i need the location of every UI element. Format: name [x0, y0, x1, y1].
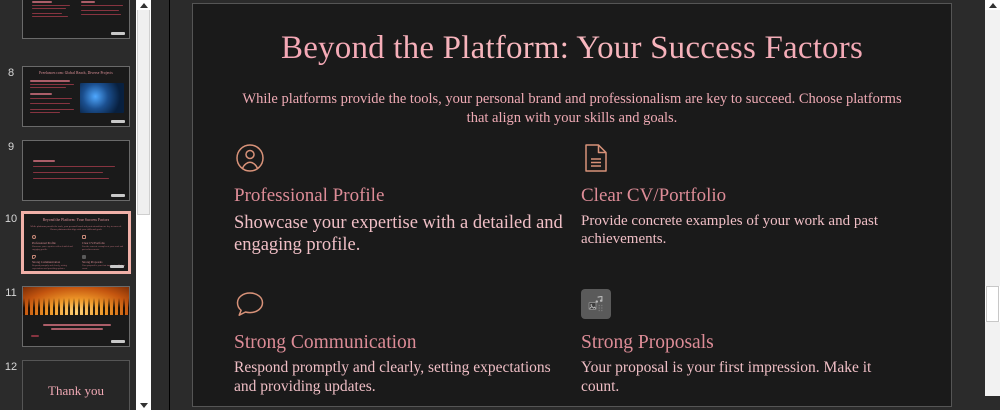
slide-thumbnail-panel[interactable]: 7 8 Freelancer.com: Global Reach, Divers…: [0, 0, 136, 410]
thumbnail-title: Beyond the Platform: Your Success Factor…: [24, 218, 128, 222]
panel-divider: [151, 0, 189, 410]
speech-bubble-icon: [32, 255, 36, 259]
thumbnail-number: 12: [0, 360, 22, 373]
slide-title: Beyond the Platform: Your Success Factor…: [223, 31, 921, 66]
thumbnail-slide-12[interactable]: 12 Thank you: [0, 360, 136, 410]
thumbnail-preview-selected[interactable]: Beyond the Platform: Your Success Factor…: [22, 212, 130, 273]
thumbnail-feature-title: Professional Profile: [32, 241, 56, 245]
main-scrollbar-thumb[interactable]: [986, 286, 999, 322]
thumbnail-preview[interactable]: [22, 0, 130, 39]
thumbnail-footer-bar: [110, 265, 124, 268]
thumbnail-slide-11[interactable]: 11: [0, 286, 136, 347]
thumbnail-preview[interactable]: Thank you: [22, 360, 130, 410]
sidebar-scrollbar-thumb[interactable]: [137, 9, 150, 215]
thumbnail-thank-you-text: Thank you: [23, 383, 129, 399]
thumbnail-slide-7[interactable]: 7: [0, 0, 136, 39]
thumbnail-slide-9[interactable]: 9: [0, 140, 136, 201]
feature-title: Strong Communication: [234, 332, 564, 354]
thumbnail-slide-8[interactable]: 8 Freelancer.com: Global Reach, Diverse …: [0, 66, 136, 127]
divider-line: [169, 0, 170, 410]
feature-title: Clear CV/Portfolio: [581, 185, 911, 207]
speech-bubble-icon: [234, 289, 564, 323]
thumbnail-footer-bar: [111, 120, 125, 123]
thumbnail-feature-title: Strong Proposals: [82, 260, 102, 264]
thumbnail-footer-bar: [111, 32, 125, 35]
main-scrollbar-track-upper[interactable]: [985, 10, 1000, 286]
feature-professional-profile[interactable]: Professional Profile Showcase your exper…: [234, 142, 564, 257]
main-scrollbar[interactable]: [985, 0, 1000, 410]
broken-image-placeholder[interactable]: [581, 289, 611, 319]
slide-subtitle: While platforms provide the tools, your …: [239, 90, 905, 128]
sidebar-scroll-down-icon[interactable]: [137, 400, 150, 410]
thumbnail-feature-body: Provide concrete examples of your work a…: [82, 246, 126, 252]
thumbnail-title: Freelancer.com: Global Reach, Diverse Pr…: [23, 71, 129, 75]
document-lines-icon: [581, 142, 911, 176]
thumbnail-subtitle: While platforms provide the tools, your …: [28, 225, 124, 231]
main-scrollbar-track-lower[interactable]: [985, 322, 1000, 400]
feature-strong-communication[interactable]: Strong Communication Respond promptly an…: [234, 289, 564, 397]
feature-title: Strong Proposals: [581, 332, 911, 354]
main-scroll-up-icon[interactable]: [986, 0, 999, 10]
feature-body: Showcase your expertise with a detailed …: [234, 212, 564, 257]
broken-image-icon: [82, 255, 86, 259]
thumbnail-preview[interactable]: [22, 286, 130, 347]
thumbnail-preview[interactable]: Freelancer.com: Global Reach, Diverse Pr…: [22, 66, 130, 127]
thumbnail-slide-10[interactable]: 10 Beyond the Platform: Your Success Fac…: [0, 212, 136, 273]
thumbnail-footer-bar: [111, 340, 125, 343]
sidebar-scrollbar[interactable]: [136, 0, 151, 410]
thumbnail-feature-body: Respond promptly and clearly, setting ex…: [32, 265, 76, 271]
thumbnail-footer-bar: [111, 194, 125, 197]
feature-strong-proposals[interactable]: Strong Proposals Your proposal is your f…: [581, 289, 911, 397]
thumbnail-feature-title: Strong Communication: [32, 260, 60, 264]
user-circle-icon: [234, 142, 564, 176]
feature-body: Provide concrete examples of your work a…: [581, 212, 906, 249]
thumbnail-network-globe-image: [80, 83, 124, 113]
thumbnail-number: 9: [0, 140, 22, 153]
scrollbar-corner: [985, 396, 1000, 410]
sidebar-scroll-up-icon[interactable]: [137, 0, 150, 10]
feature-title: Professional Profile: [234, 185, 564, 207]
thumbnail-feature-title: Clear CV/Portfolio: [82, 241, 105, 245]
user-circle-icon: [32, 235, 36, 239]
thumbnail-feature-body: Showcase your expertise with a detailed …: [32, 246, 76, 252]
feature-body: Respond promptly and clearly, setting ex…: [234, 359, 564, 397]
broken-image-icon[interactable]: [581, 289, 911, 323]
thumbnail-number: 10: [0, 212, 22, 225]
slide-canvas[interactable]: Beyond the Platform: Your Success Factor…: [192, 3, 952, 407]
feature-clear-cv-portfolio[interactable]: Clear CV/Portfolio Provide concrete exam…: [581, 142, 911, 248]
thumbnail-number: 11: [0, 286, 22, 299]
thumbnail-crowd-image: [23, 287, 130, 315]
thumbnail-preview[interactable]: [22, 140, 130, 201]
thumbnail-number: 8: [0, 66, 22, 79]
feature-body: Your proposal is your first impression. …: [581, 359, 911, 397]
presentation-editor: 7 8 Freelancer.com: Global Reach, Divers…: [0, 0, 1000, 410]
document-lines-icon: [82, 235, 86, 239]
